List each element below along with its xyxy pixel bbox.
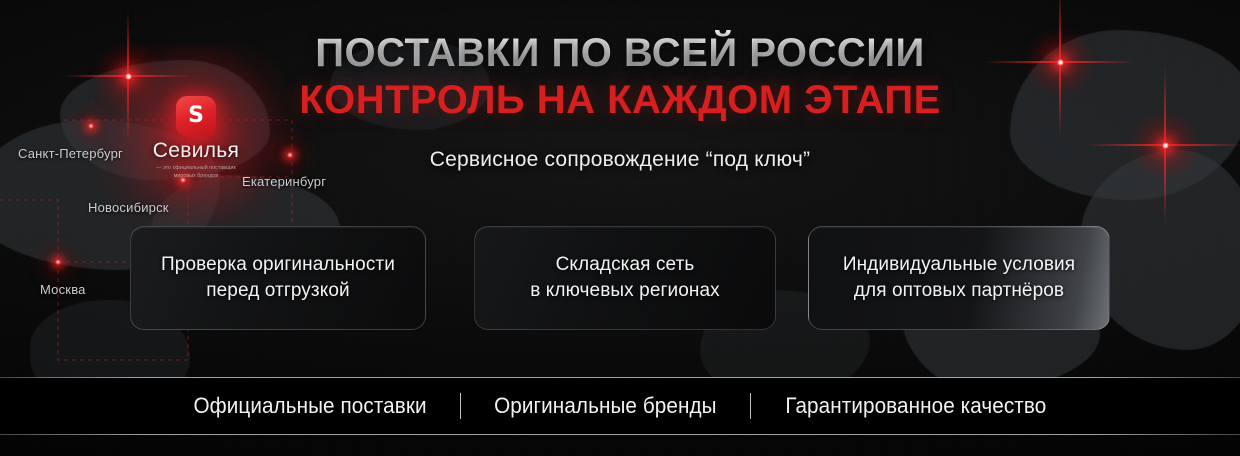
headline: ПОСТАВКИ ПО ВСЕЙ РОССИИ КОНТРОЛЬ НА КАЖД… <box>0 30 1240 124</box>
brand-tagline-line-2: мировых брендов <box>132 173 260 181</box>
promo-banner: Санкт-Петербург Новосибирск Екатеринбург… <box>0 0 1240 456</box>
benefit-separator <box>750 393 751 419</box>
feature-card-individual-terms[interactable]: Индивидуальные условия для оптовых партн… <box>808 226 1110 330</box>
feature-card-line-1: Складская сеть <box>530 252 720 278</box>
feature-card-line-2: в ключевых регионах <box>530 278 720 304</box>
bottom-bar-top-rule <box>0 377 1240 378</box>
headline-line-2: КОНТРОЛЬ НА КАЖДОМ ЭТАПЕ <box>0 77 1240 124</box>
feature-card-line-1: Проверка оригинальности <box>161 252 395 278</box>
feature-card-originality-check[interactable]: Проверка оригинальности перед отгрузкой <box>130 226 426 330</box>
benefit-original-brands: Оригинальные бренды <box>494 393 717 419</box>
feature-cards: Проверка оригинальности перед отгрузкой … <box>0 226 1240 330</box>
bottom-bar-bottom-rule <box>0 434 1240 435</box>
feature-card-line-2: перед отгрузкой <box>161 278 395 304</box>
feature-card-line-2: для оптовых партнёров <box>843 278 1075 304</box>
subtitle: Сервисное сопровождение “под ключ” <box>0 148 1240 172</box>
benefit-separator <box>460 393 461 419</box>
city-label-novosibirsk: Новосибирск <box>88 200 169 215</box>
feature-card-line-1: Индивидуальные условия <box>843 252 1075 278</box>
benefit-guaranteed-quality: Гарантированное качество <box>785 393 1046 419</box>
headline-line-1: ПОСТАВКИ ПО ВСЕЙ РОССИИ <box>0 30 1240 77</box>
feature-card-warehouse-network[interactable]: Складская сеть в ключевых регионах <box>474 226 776 330</box>
bottom-benefits-bar: Официальные поставки Оригинальные бренды… <box>0 378 1240 434</box>
benefit-official-supplies: Официальные поставки <box>193 393 426 419</box>
